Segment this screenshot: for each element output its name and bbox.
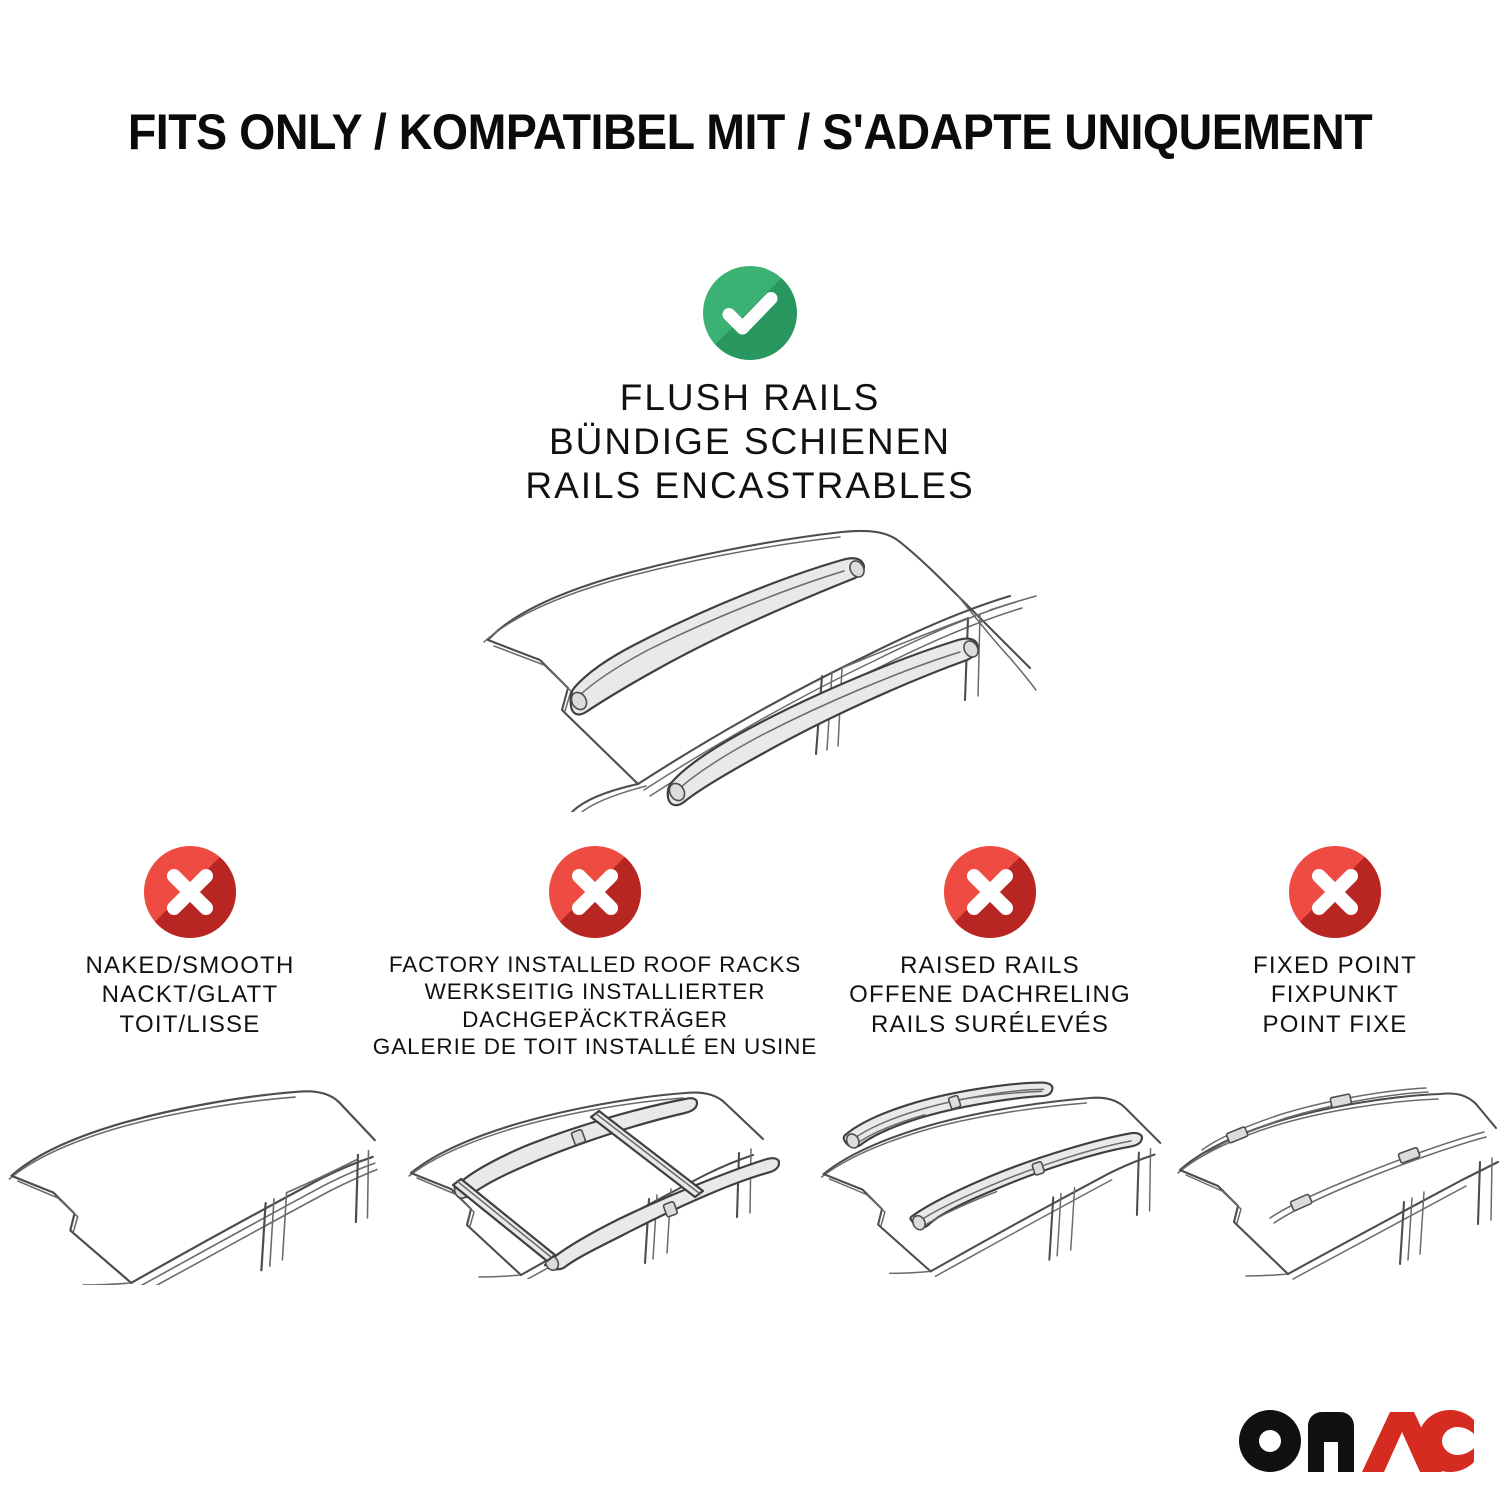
rejected-label-raised-rails: RAISED RAILS OFFENE DACHRELING RAILS SUR… — [849, 951, 1131, 1039]
rejected-label-fixed-point: FIXED POINT FIXPUNKT POINT FIXE — [1253, 951, 1417, 1039]
approved-label-line-2: BÜNDIGE SCHIENEN — [525, 420, 974, 464]
rejected-column-raised-rails: RAISED RAILS OFFENE DACHRELING RAILS SUR… — [810, 846, 1170, 1285]
car-roof-fixed-points-illustration — [1170, 1073, 1500, 1283]
rejected-column-naked-smooth: NAKED/SMOOTH NACKT/GLATT TOIT/LISSE — [0, 846, 380, 1285]
rejected-fitment-row: NAKED/SMOOTH NACKT/GLATT TOIT/LISSE — [0, 846, 1500, 1285]
rejected-column-factory-roof-racks: FACTORY INSTALLED ROOF RACKS WERKSEITIG … — [380, 846, 810, 1285]
x-circle-icon — [944, 846, 1036, 938]
car-roof-flush-rails-illustration — [470, 492, 1050, 812]
label-line-1: RAISED RAILS — [849, 951, 1131, 980]
page-title: FITS ONLY / KOMPATIBEL MIT / S'ADAPTE UN… — [53, 103, 1448, 161]
check-glyph — [703, 266, 797, 360]
logo-letter-o — [1239, 1410, 1301, 1472]
label-line-2: OFFENE DACHRELING — [849, 980, 1131, 1009]
x-glyph — [549, 846, 641, 938]
check-circle-icon — [703, 266, 797, 360]
x-circle-icon — [144, 846, 236, 938]
x-glyph — [1289, 846, 1381, 938]
label-line-3: POINT FIXE — [1253, 1010, 1417, 1039]
label-line-1: FACTORY INSTALLED ROOF RACKS — [373, 951, 817, 978]
approved-label: FLUSH RAILS BÜNDIGE SCHIENEN RAILS ENCAS… — [525, 376, 974, 508]
label-line-2: NACKT/GLATT — [85, 980, 294, 1009]
x-glyph — [144, 846, 236, 938]
x-glyph — [944, 846, 1036, 938]
approved-fitment-block: FLUSH RAILS BÜNDIGE SCHIENEN RAILS ENCAS… — [0, 266, 1500, 508]
fitment-compatibility-graphic: FITS ONLY / KOMPATIBEL MIT / S'ADAPTE UN… — [0, 0, 1500, 1500]
label-line-1: NAKED/SMOOTH — [85, 951, 294, 980]
label-line-2: FIXPUNKT — [1253, 980, 1417, 1009]
car-roof-factory-crossbars-illustration — [380, 1069, 810, 1279]
rejected-label-factory-roof-racks: FACTORY INSTALLED ROOF RACKS WERKSEITIG … — [373, 951, 817, 1061]
x-circle-icon — [1289, 846, 1381, 938]
logo-letter-m — [1308, 1412, 1354, 1472]
rejected-column-fixed-point: FIXED POINT FIXPUNKT POINT FIXE — [1170, 846, 1500, 1285]
rejected-label-naked-smooth: NAKED/SMOOTH NACKT/GLATT TOIT/LISSE — [85, 951, 294, 1039]
label-line-3: RAILS SURÉLEVÉS — [849, 1010, 1131, 1039]
label-line-2: WERKSEITIG INSTALLIERTER — [373, 978, 817, 1005]
omac-logo — [1238, 1410, 1474, 1472]
label-line-3: TOIT/LISSE — [85, 1010, 294, 1039]
label-line-1: FIXED POINT — [1253, 951, 1417, 980]
approved-label-line-1: FLUSH RAILS — [525, 376, 974, 420]
car-roof-raised-rails-illustration — [810, 1071, 1170, 1281]
label-line-4: GALERIE DE TOIT INSTALLÉ EN USINE — [373, 1033, 817, 1060]
label-line-3: DACHGEPÄCKTRÄGER — [373, 1006, 817, 1033]
car-roof-bare-illustration — [0, 1075, 380, 1285]
x-circle-icon — [549, 846, 641, 938]
